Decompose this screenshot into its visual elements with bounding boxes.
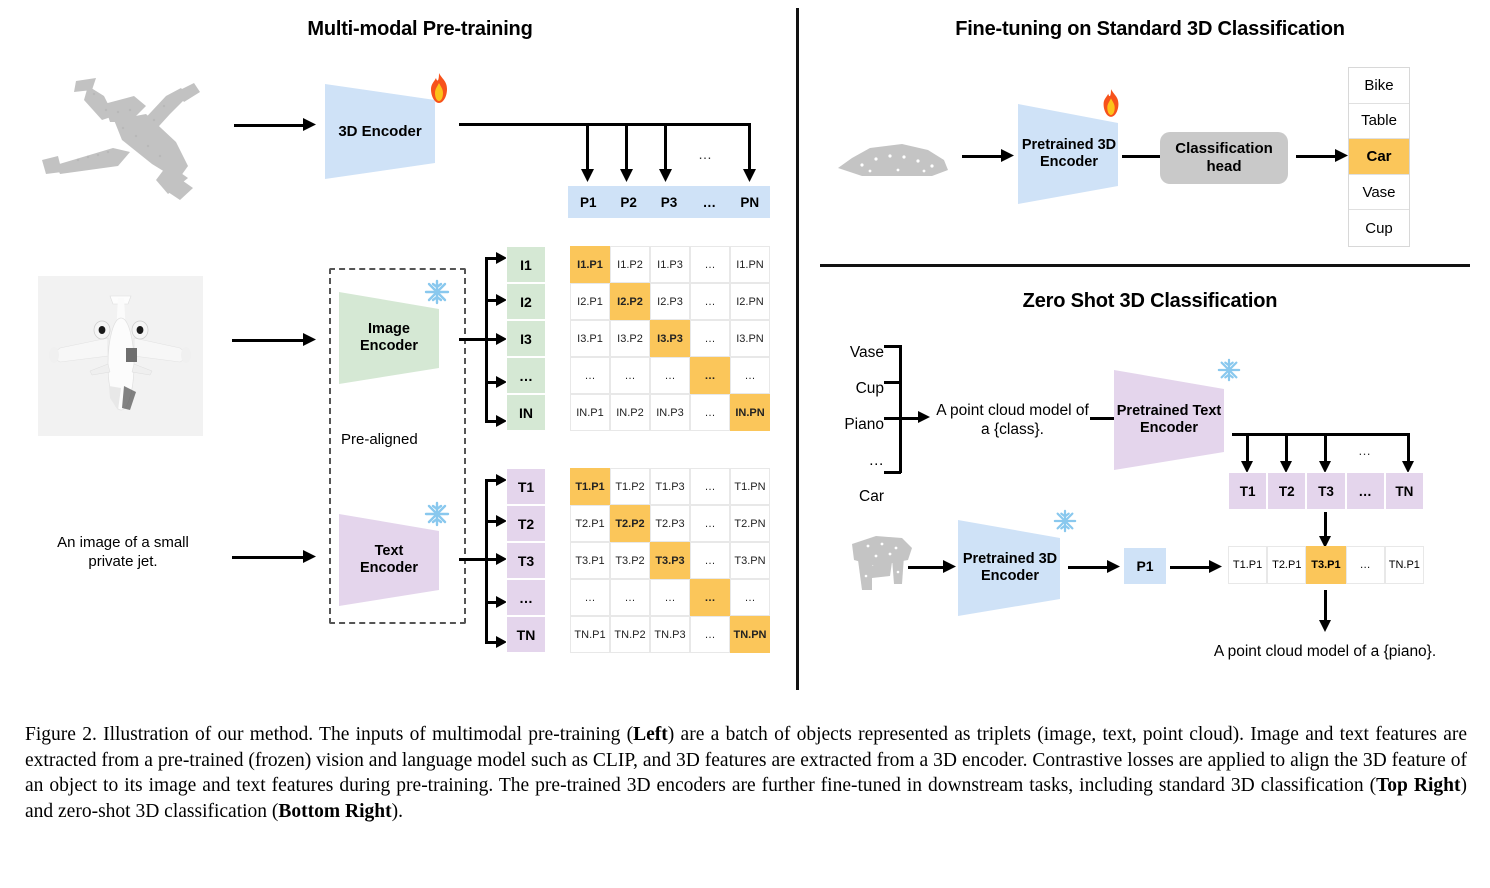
image-similarity-cell: …	[690, 283, 730, 320]
matrix-row: IN.P1IN.P2IN.P3…IN.PN	[570, 394, 770, 431]
arrow-head-to-classlist	[1296, 155, 1338, 158]
class-list-item[interactable]: Car	[1349, 139, 1409, 175]
image-similarity-cell: …	[610, 357, 650, 394]
text-similarity-cell: …	[650, 579, 690, 616]
figure-caption: Figure 2. Illustration of our method. Th…	[25, 722, 1467, 824]
matrix-row: TN.P1TN.P2TN.P3…TN.PN	[570, 616, 770, 653]
text-similarity-cell: T2.P1	[570, 505, 610, 542]
text-feature-cell: …	[506, 579, 546, 616]
zeroshot-text-feature-cell: TN	[1385, 472, 1424, 510]
arrowhead-icon	[743, 169, 756, 183]
encoder-text-label: TextEncoder	[360, 543, 418, 576]
text-feature-row-zeroshot: T1T2T3…TN	[1228, 472, 1424, 510]
arrowhead-icon	[1107, 560, 1121, 574]
text-similarity-cell: TN.P1	[570, 616, 610, 653]
text-similarity-cell: TN.P3	[650, 616, 690, 653]
image-similarity-cell: IN.PN	[730, 394, 770, 431]
arrowhead-icon	[659, 169, 672, 183]
similarity-score-cell: T2.P1	[1267, 546, 1306, 584]
image-similarity-matrix: I1.P1I1.P2I1.P3…I1.PNI2.P1I2.P2I2.P3…I2.…	[570, 246, 770, 431]
image-similarity-cell: I3.P1	[570, 320, 610, 357]
text-similarity-cell: …	[570, 579, 610, 616]
matrix-row: ……………	[570, 357, 770, 394]
text-similarity-cell: …	[690, 542, 730, 579]
arrow-piano-to-encoder	[908, 566, 946, 569]
arrow-scores-to-prediction	[1324, 590, 1327, 622]
similarity-score-cell: TN.P1	[1385, 546, 1424, 584]
image-feature-cell: IN	[506, 394, 546, 431]
zeroshot-class-name: Piano	[826, 407, 884, 443]
image-similarity-cell: I3.P2	[610, 320, 650, 357]
pretrained-3d-encoder-finetune-label: Pretrained 3DEncoder	[1022, 137, 1116, 170]
image-similarity-cell: I2.PN	[730, 283, 770, 320]
pretrained-text-encoder-label: Pretrained TextEncoder	[1117, 403, 1222, 436]
fire-icon	[425, 72, 453, 104]
zeroshot-text-feature-cell: T2	[1267, 472, 1306, 510]
similarity-score-row: T1.P1T2.P1T3.P1…TN.P1	[1228, 546, 1424, 584]
class-list-item[interactable]: Table	[1349, 104, 1409, 140]
ellipsis-p-branch: …	[698, 146, 712, 162]
text-similarity-cell: …	[690, 468, 730, 505]
arrowhead-icon	[620, 169, 633, 183]
caption-text: Figure 2. Illustration of our method. Th…	[25, 724, 633, 745]
image-similarity-cell: …	[570, 357, 610, 394]
image-similarity-cell: …	[690, 357, 730, 394]
image-similarity-cell: …	[690, 246, 730, 283]
fanout-spine-text	[485, 479, 488, 644]
text-similarity-cell: …	[690, 505, 730, 542]
text-similarity-cell: …	[610, 579, 650, 616]
text-similarity-cell: T1.P2	[610, 468, 650, 505]
brace-vertical	[899, 345, 902, 473]
p-feature-cell: P3	[649, 186, 689, 218]
pretrained-3d-encoder-zeroshot: Pretrained 3DEncoder	[958, 520, 1082, 616]
text-similarity-cell: TN.PN	[730, 616, 770, 653]
text-similarity-cell: T2.PN	[730, 505, 770, 542]
p-feature-row: P1P2P3…PN	[568, 186, 770, 218]
branch-line-p1	[586, 123, 589, 171]
image-similarity-cell: I2.P3	[650, 283, 690, 320]
snowflake-icon	[424, 279, 450, 305]
zeroshot-class-name: Cup	[826, 371, 884, 407]
text-feature-column: T1T2T3…TN	[506, 468, 546, 653]
text-similarity-cell: T3.P2	[610, 542, 650, 579]
zeroshot-class-name: Car	[826, 479, 884, 515]
point-cloud-car	[832, 134, 954, 186]
matrix-row: ……………	[570, 579, 770, 616]
matrix-row: I1.P1I1.P2I1.P3…I1.PN	[570, 246, 770, 283]
zeroshot-text-feature-cell: T1	[1228, 472, 1267, 510]
arrow-car-to-encoder	[962, 155, 1004, 158]
image-similarity-cell: …	[730, 357, 770, 394]
classification-head-label: Classification head	[1160, 140, 1288, 176]
text-similarity-cell: T1.PN	[730, 468, 770, 505]
image-similarity-cell: IN.P3	[650, 394, 690, 431]
arrow-pointcloud-to-3d-encoder	[234, 124, 306, 127]
matrix-row: T1.P1T1.P2T1.P3…T1.PN	[570, 468, 770, 505]
p1-feature-box: P1	[1124, 548, 1166, 584]
pre-aligned-label: Pre-aligned	[341, 431, 418, 448]
caption-emphasis: Bottom Right	[278, 801, 391, 822]
horizontal-divider	[820, 264, 1470, 267]
image-similarity-cell: …	[690, 394, 730, 431]
image-feature-cell: I3	[506, 320, 546, 357]
fanout-stem-text	[459, 558, 487, 561]
arrowhead-icon	[1209, 560, 1223, 574]
p-feature-cell: PN	[730, 186, 770, 218]
snowflake-icon	[1217, 358, 1241, 382]
text-similarity-cell: T3.P3	[650, 542, 690, 579]
image-similarity-cell: I2.P1	[570, 283, 610, 320]
text-feature-cell: T1	[506, 468, 546, 505]
branch-line-pn	[748, 123, 751, 171]
encoder-image: ImageEncoder	[339, 292, 459, 384]
text-similarity-cell: …	[690, 579, 730, 616]
image-feature-cell: I1	[506, 246, 546, 283]
class-list-finetune: BikeTableCarVaseCup	[1348, 67, 1410, 247]
caption-text: ).	[392, 801, 403, 822]
fire-icon	[1098, 88, 1124, 118]
p1-feature-label: P1	[1136, 558, 1153, 574]
arrowhead-icon	[1335, 149, 1349, 163]
prompt-template: A point cloud model of a {class}.	[930, 401, 1095, 440]
image-similarity-cell: I2.P2	[610, 283, 650, 320]
arrow-p1-to-scores	[1170, 566, 1212, 569]
image-feature-cell: …	[506, 357, 546, 394]
branch-line-t3	[1324, 433, 1327, 463]
image-similarity-cell: I3.P3	[650, 320, 690, 357]
image-similarity-cell: …	[690, 320, 730, 357]
text-input-label: An image of a small private jet.	[38, 534, 208, 572]
arrow-encoder-to-head	[1122, 155, 1164, 158]
panel-title-top-right: Fine-tuning on Standard 3D Classificatio…	[870, 18, 1430, 41]
text-similarity-cell: T2.P3	[650, 505, 690, 542]
class-list-item[interactable]: Cup	[1349, 210, 1409, 246]
text-similarity-cell: T2.P2	[610, 505, 650, 542]
arrowhead-icon	[581, 169, 594, 183]
text-feature-cell: TN	[506, 616, 546, 653]
matrix-row: T3.P1T3.P2T3.P3…T3.PN	[570, 542, 770, 579]
branch-line-p3	[664, 123, 667, 171]
brace-tick-vase	[884, 345, 901, 348]
text-similarity-cell: T1.P3	[650, 468, 690, 505]
text-similarity-cell: T3.P1	[570, 542, 610, 579]
encoder-text: TextEncoder	[339, 514, 459, 606]
text-feature-cell: T3	[506, 542, 546, 579]
arrowhead-icon	[303, 118, 317, 132]
brace-tick-cup	[884, 381, 901, 384]
text-feature-cell: T2	[506, 505, 546, 542]
brace-tick-piano	[884, 417, 901, 420]
text-similarity-cell: …	[730, 579, 770, 616]
similarity-score-cell: T3.P1	[1306, 546, 1345, 584]
zeroshot-class-name: …	[826, 443, 884, 479]
image-similarity-cell: I1.P2	[610, 246, 650, 283]
arrow-image-to-image-encoder	[232, 339, 306, 342]
arrow-encoder-to-p1	[1068, 566, 1110, 569]
arrowhead-icon	[303, 550, 317, 564]
branch-line-t1	[1246, 433, 1249, 463]
image-similarity-cell: I1.P3	[650, 246, 690, 283]
rendered-image-jet	[38, 276, 203, 436]
encoder-image-label: ImageEncoder	[360, 321, 418, 354]
figure-root: Multi-modal Pre-training Fine-tuning on …	[0, 0, 1490, 888]
branch-line-t2	[1285, 433, 1288, 463]
p-feature-cell: P2	[608, 186, 648, 218]
encoder-3d-label: 3D Encoder	[338, 123, 421, 140]
p-feature-cell: P1	[568, 186, 608, 218]
point-cloud-airplane	[18, 48, 233, 213]
matrix-row: I3.P1I3.P2I3.P3…I3.PN	[570, 320, 770, 357]
feature-bus-text	[1232, 433, 1410, 436]
panel-title-bottom-right: Zero Shot 3D Classification	[930, 290, 1370, 313]
text-similarity-cell: T1.P1	[570, 468, 610, 505]
text-similarity-cell: TN.P2	[610, 616, 650, 653]
image-similarity-cell: I1.PN	[730, 246, 770, 283]
fanout-stem-image	[459, 338, 487, 341]
panel-title-left: Multi-modal Pre-training	[210, 18, 630, 41]
image-similarity-cell: I3.PN	[730, 320, 770, 357]
pretrained-3d-encoder-finetune: Pretrained 3DEncoder	[1018, 104, 1140, 204]
image-similarity-cell: IN.P1	[570, 394, 610, 431]
pretrained-text-encoder: Pretrained TextEncoder	[1114, 370, 1246, 470]
p-feature-cell: …	[689, 186, 729, 218]
class-list-item[interactable]: Bike	[1349, 68, 1409, 104]
similarity-score-cell: T1.P1	[1228, 546, 1267, 584]
snowflake-icon	[1053, 509, 1077, 533]
image-similarity-cell: I1.P1	[570, 246, 610, 283]
similarity-score-cell: …	[1346, 546, 1385, 584]
class-list-item[interactable]: Vase	[1349, 175, 1409, 211]
arrowhead-icon	[943, 560, 957, 574]
arrowhead-icon	[1319, 620, 1332, 633]
zeroshot-class-name: Vase	[826, 335, 884, 371]
image-similarity-cell: …	[650, 357, 690, 394]
branch-line-tn	[1407, 433, 1410, 463]
brace-tick-car	[884, 471, 901, 474]
caption-emphasis: Top Right	[1376, 775, 1460, 796]
classification-head: Classification head	[1160, 132, 1288, 184]
pretrained-3d-encoder-zeroshot-label: Pretrained 3DEncoder	[963, 551, 1057, 584]
ellipsis-t-branch: …	[1358, 443, 1371, 458]
class-name-list: VaseCupPiano…Car	[826, 335, 886, 515]
feature-bus-3d	[459, 123, 751, 126]
arrow-trow-to-scores	[1324, 512, 1327, 538]
text-similarity-matrix: T1.P1T1.P2T1.P3…T1.PNT2.P1T2.P2T2.P3…T2.…	[570, 468, 770, 653]
point-cloud-piano	[846, 528, 922, 600]
text-similarity-cell: …	[690, 616, 730, 653]
branch-line-p2	[625, 123, 628, 171]
caption-emphasis: Left	[633, 724, 668, 745]
arrow-text-to-text-encoder	[232, 556, 306, 559]
zeroshot-text-feature-cell: …	[1346, 472, 1385, 510]
text-similarity-cell: T3.PN	[730, 542, 770, 579]
zeroshot-text-feature-cell: T3	[1306, 472, 1345, 510]
matrix-row: I2.P1I2.P2I2.P3…I2.PN	[570, 283, 770, 320]
vertical-divider	[796, 8, 799, 690]
image-feature-cell: I2	[506, 283, 546, 320]
arrowhead-icon	[303, 333, 317, 347]
snowflake-icon	[424, 501, 450, 527]
matrix-row: T2.P1T2.P2T2.P3…T2.PN	[570, 505, 770, 542]
image-similarity-cell: IN.P2	[610, 394, 650, 431]
arrowhead-icon	[1001, 149, 1015, 163]
image-feature-column: I1I2I3…IN	[506, 246, 546, 431]
prediction-text: A point cloud model of a {piano}.	[1175, 642, 1475, 661]
